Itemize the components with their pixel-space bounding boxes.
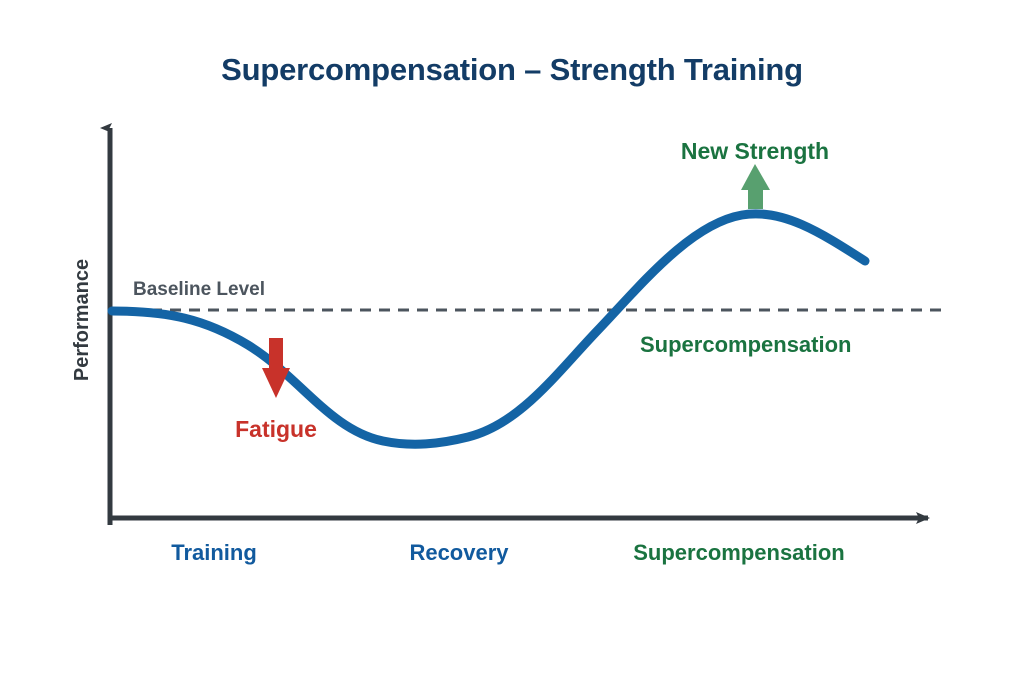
- baseline-label: Baseline Level: [133, 279, 265, 300]
- new-strength-arrow-icon: [741, 164, 770, 209]
- diagram-canvas: Supercompensation – Strength Training Pe…: [0, 0, 1024, 683]
- phase-label-recovery: Recovery: [409, 540, 509, 565]
- fatigue-label: Fatigue: [235, 416, 317, 442]
- performance-curve: [112, 214, 865, 444]
- y-axis-label: Performance: [71, 259, 93, 381]
- fatigue-arrow-icon: [262, 338, 290, 398]
- supercompensation-zone-label: Supercompensation: [640, 332, 851, 357]
- phase-label-training: Training: [171, 540, 257, 565]
- supercompensation-chart: Supercompensation – Strength Training Pe…: [0, 0, 1024, 683]
- page-title: Supercompensation – Strength Training: [221, 52, 803, 87]
- phase-label-supercompensation: Supercompensation: [633, 540, 844, 565]
- new-strength-label: New Strength: [681, 138, 829, 164]
